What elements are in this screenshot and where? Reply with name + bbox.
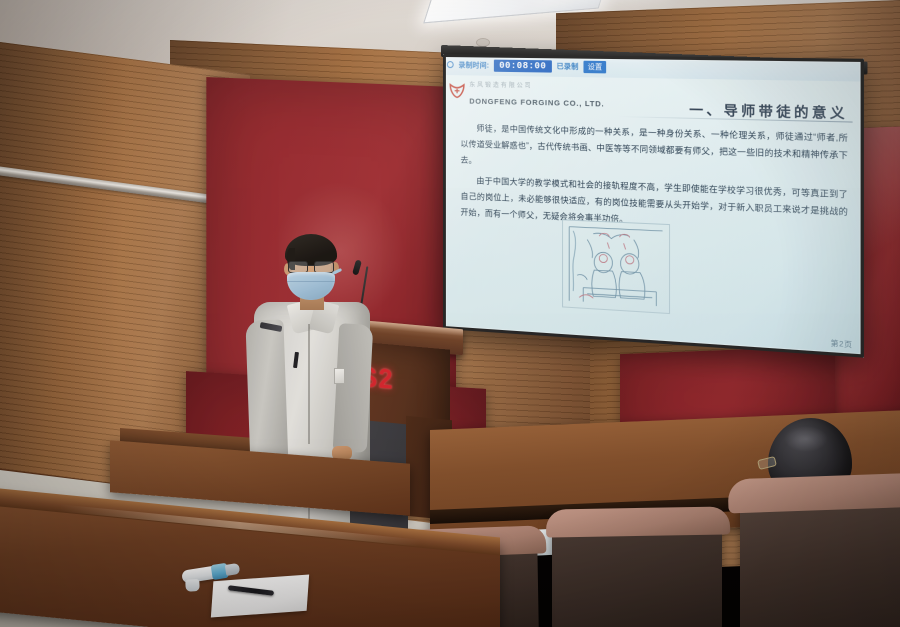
presentation-slide: 录制时间: 00:08:00 已录制 设置 东风锻造有限公司 DONGFENG … — [443, 54, 864, 358]
slide-page-number: 第2页 — [831, 338, 853, 350]
company-name-cn: 东风锻造有限公司 — [469, 82, 532, 89]
osd-timer: 00:08:00 — [494, 59, 551, 72]
presenter-arm-right — [333, 323, 374, 453]
osd-record-label: 录制时间: — [459, 60, 490, 70]
company-logo: 东风锻造有限公司 DONGFENG FORGING CO., LTD. — [449, 74, 605, 111]
record-dot-icon — [447, 61, 454, 68]
surgical-face-mask-icon — [287, 272, 335, 300]
osd-status-label: 已录制 — [557, 61, 579, 72]
auditorium-seat-back[interactable] — [546, 506, 730, 537]
company-name-en: DONGFENG FORGING CO., LTD. — [469, 96, 604, 108]
presenter-shirt-placket — [308, 324, 310, 444]
slide-paragraph-1: 师徒，是中国传统文化中形成的一种关系，是一种身份关系、一种伦理关系，师徒通过“师… — [460, 120, 848, 181]
dongfeng-forging-logo-icon — [449, 83, 466, 98]
auditorium-seat-back[interactable] — [727, 473, 900, 514]
osd-settings-button[interactable]: 设置 — [584, 60, 607, 73]
traditional-chinese-master-apprentice-line-drawing — [562, 219, 670, 314]
presenter-arm-left — [245, 319, 288, 470]
projection-screen[interactable]: 录制时间: 00:08:00 已录制 设置 东风锻造有限公司 DONGFENG … — [443, 54, 864, 358]
conference-room-scene: 录制时间: 00:08:00 已录制 设置 东风锻造有限公司 DONGFENG … — [0, 0, 900, 627]
employee-badge-icon — [334, 368, 345, 384]
